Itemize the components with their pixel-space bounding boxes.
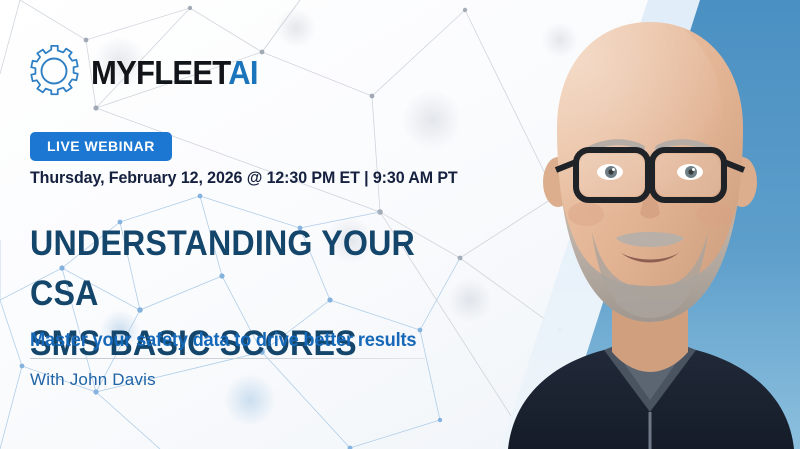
brand-logo[interactable]: MYFLEETAI: [30, 45, 268, 99]
brand-name-accent: AI: [228, 54, 258, 91]
webinar-banner: MYFLEETAI LIVE WEBINAR Thursday, Februar…: [0, 0, 800, 449]
webinar-datetime: Thursday, February 12, 2026 @ 12:30 PM E…: [30, 169, 458, 188]
gear-icon: [30, 45, 82, 99]
speaker-credit: With John Davis: [30, 370, 156, 390]
headline-line-1: UNDERSTANDING YOUR CSA: [30, 224, 415, 313]
brand-name-primary: MYFLEET: [91, 54, 228, 91]
divider: [30, 358, 425, 359]
content-column: MYFLEETAI LIVE WEBINAR Thursday, Februar…: [30, 0, 550, 449]
brand-wordmark: MYFLEETAI: [91, 56, 258, 89]
page-subtitle: Master your safety data to drive better …: [30, 330, 472, 353]
live-webinar-badge[interactable]: LIVE WEBINAR: [30, 132, 172, 161]
